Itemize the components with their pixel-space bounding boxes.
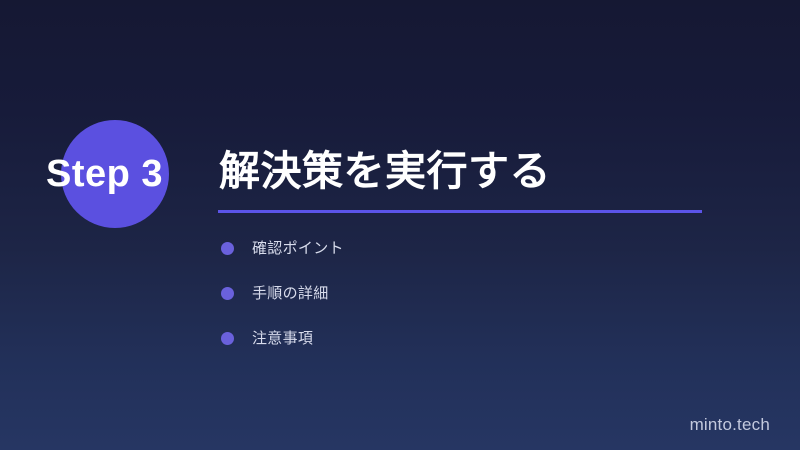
step-number-label: Step 3	[46, 152, 163, 196]
list-item: 確認ポイント	[221, 238, 691, 283]
bullet-dot-icon	[221, 332, 234, 345]
list-item-label: 手順の詳細	[252, 283, 329, 304]
presentation-slide: Step 3 解決策を実行する 確認ポイント 手順の詳細 注意事項 minto.…	[0, 0, 800, 450]
footer-brand-label: minto.tech	[690, 414, 770, 436]
bullet-dot-icon	[221, 242, 234, 255]
bullet-list: 確認ポイント 手順の詳細 注意事項	[221, 238, 691, 373]
list-item-label: 注意事項	[252, 328, 313, 349]
bullet-dot-icon	[221, 287, 234, 300]
slide-title: 解決策を実行する	[219, 145, 551, 197]
list-item-label: 確認ポイント	[252, 238, 344, 259]
list-item: 手順の詳細	[221, 283, 691, 328]
title-divider	[218, 210, 702, 213]
list-item: 注意事項	[221, 328, 691, 373]
